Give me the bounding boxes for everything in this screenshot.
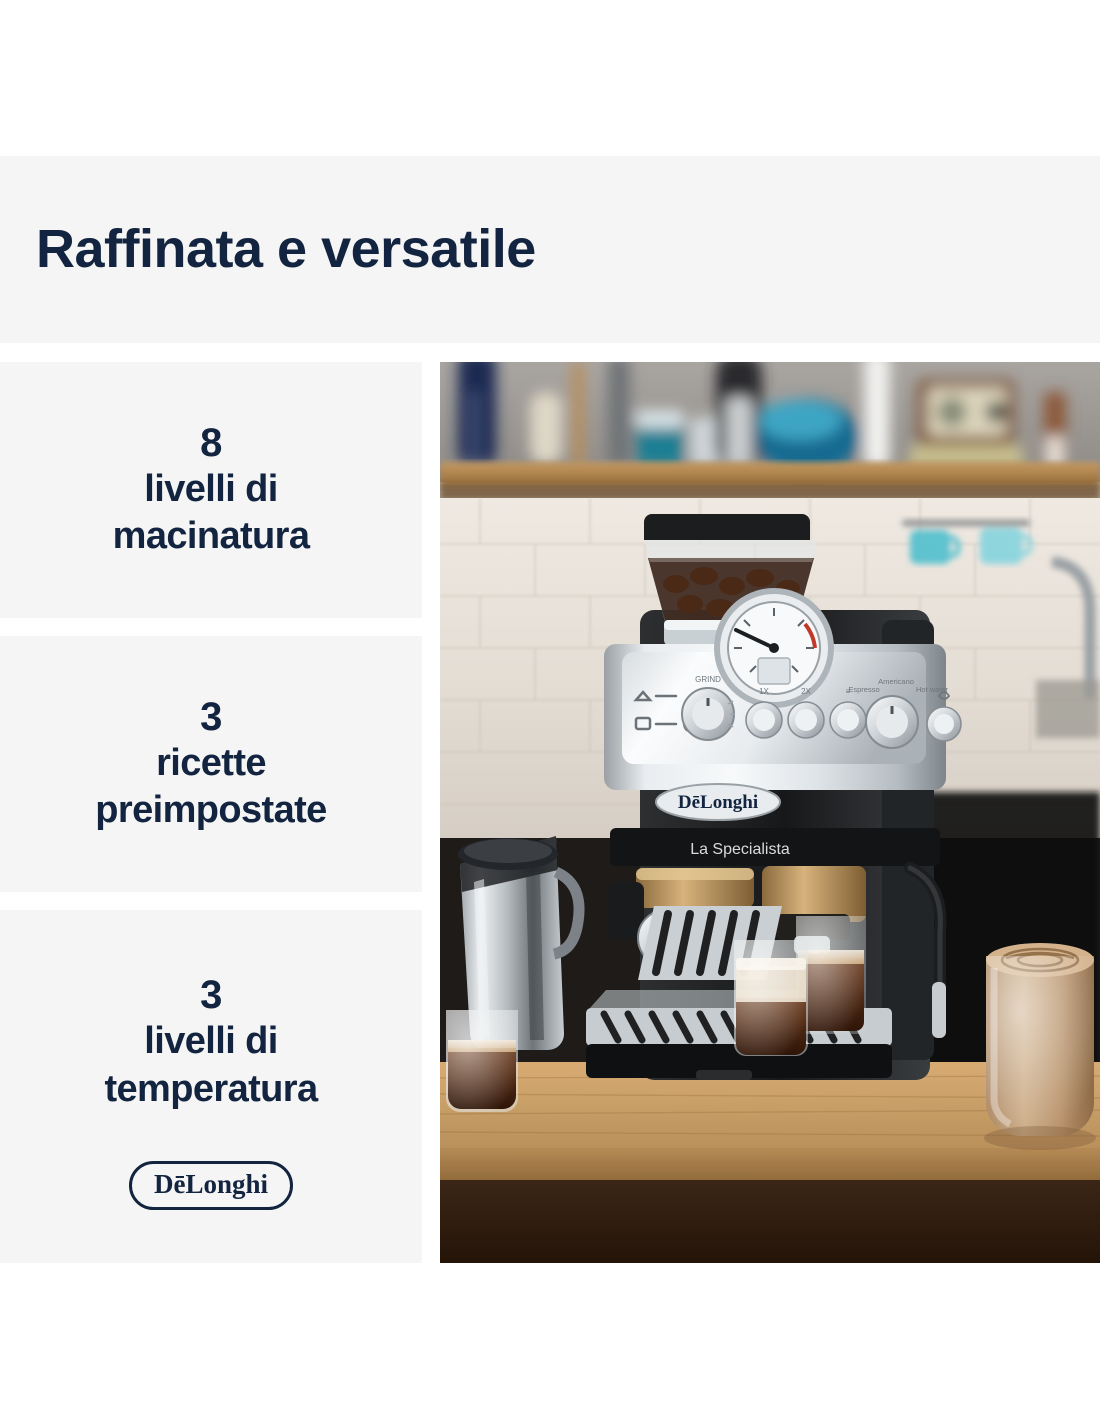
logo-container: DēLonghi [0,1161,422,1210]
espresso-shot-glass [446,1010,518,1112]
feature-label-line-2: temperatura [104,1066,317,1114]
promo-page: Raffinata e versatile 8 livelli di macin… [0,0,1100,1422]
delonghi-logo-text: DēLonghi [154,1171,268,1198]
feature-number: 8 [200,420,222,466]
grind-knob [682,688,735,740]
header-panel: Raffinata e versatile [0,156,1100,343]
svg-text:1X: 1X [759,687,769,696]
features-column: 8 livelli di macinatura 3 ricette preimp… [0,362,422,1263]
svg-text:DēLonghi: DēLonghi [678,792,758,813]
machine-model-label: La Specialista [690,841,790,858]
product-photo-illustration: GRIND 1X 2X ≡ [440,362,1100,1263]
svg-text:GRIND: GRIND [695,675,721,684]
feature-number: 3 [200,694,222,740]
recipe-buttons [746,702,866,738]
svg-text:Espresso: Espresso [848,685,879,694]
svg-text:Americano: Americano [878,677,914,686]
product-photo: GRIND 1X 2X ≡ [440,362,1100,1263]
cappuccino-glass [984,943,1096,1150]
feature-label-line-1: livelli di [144,466,277,514]
coffee-glass-front [734,940,808,1056]
feature-label-line-2: preimpostate [95,787,326,835]
delonghi-logo: DēLonghi [129,1161,293,1210]
feature-card-grind-levels: 8 livelli di macinatura [0,362,422,618]
feature-label-line-1: livelli di [144,1018,277,1066]
machine-brand-badge: DēLonghi [656,784,780,820]
feature-card-preset-recipes: 3 ricette preimpostate [0,636,422,892]
feature-number: 3 [200,972,222,1018]
temperature-knob [866,696,918,748]
feature-label-line-2: macinatura [113,513,310,561]
feature-card-temperature-levels: 3 livelli di temperatura DēLonghi [0,910,422,1263]
svg-text:2X: 2X [801,687,811,696]
feature-label-line-1: ricette [156,740,266,788]
pressure-gauge [714,588,834,708]
page-title: Raffinata e versatile [0,221,536,278]
